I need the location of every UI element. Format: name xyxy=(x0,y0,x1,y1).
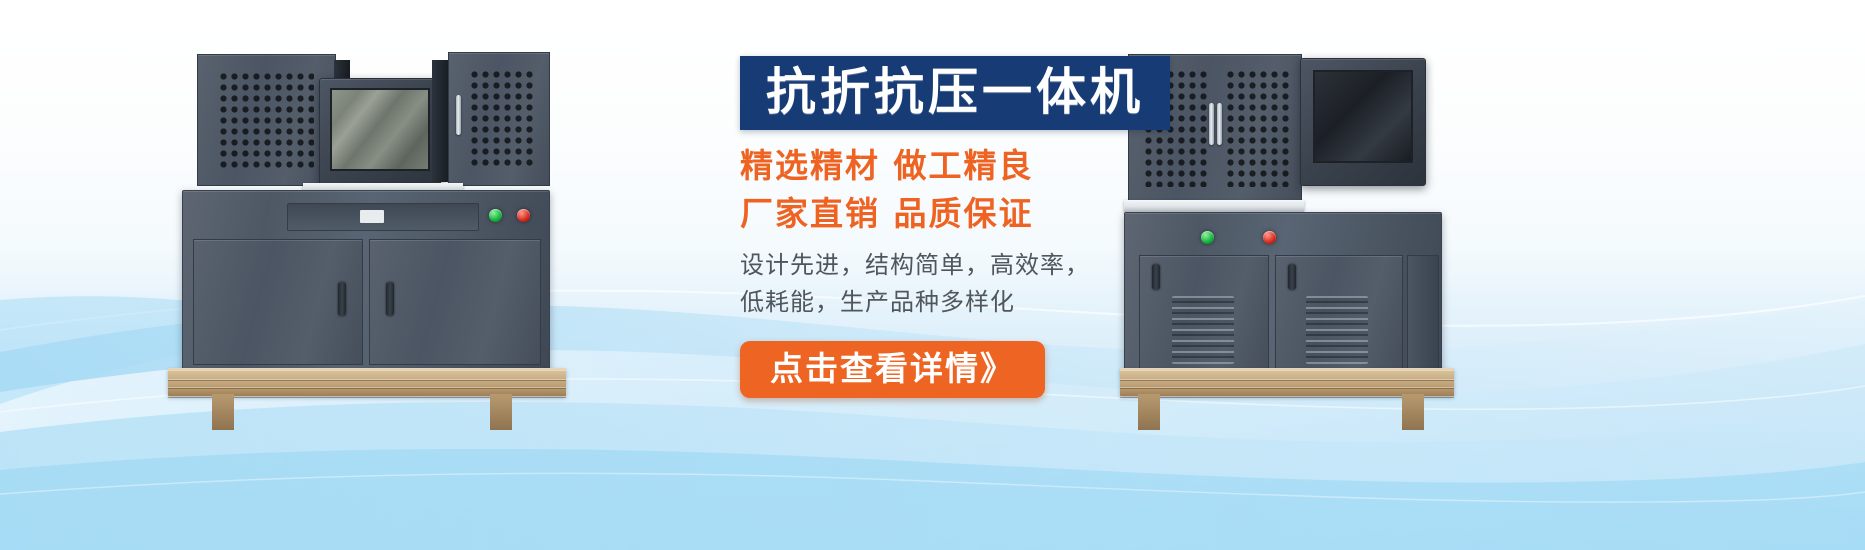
description-line-1: 设计先进，结构简单，高效率， xyxy=(740,247,1300,284)
cabinet-handle xyxy=(456,95,461,135)
control-label-plate xyxy=(360,210,384,223)
view-details-button[interactable]: 点击查看详情》 xyxy=(740,341,1045,398)
left-machine-upper-left-cabinet xyxy=(197,54,336,186)
description-block: 设计先进，结构简单，高效率， 低耗能，生产品种多样化 xyxy=(740,247,1300,321)
right-machine-monitor xyxy=(1300,58,1426,186)
red-indicator-light xyxy=(517,209,530,222)
pallet-leg xyxy=(212,394,234,430)
headline-primary: 精选精材 做工精良 xyxy=(740,144,1300,188)
promotional-banner: 抗折抗压一体机 精选精材 做工精良 厂家直销 品质保证 设计先进，结构简单，高效… xyxy=(0,0,1865,550)
monitor-screen xyxy=(1313,70,1413,163)
right-machine-side-column xyxy=(1407,255,1439,369)
pallet-leg xyxy=(1402,394,1424,430)
left-machine-lower-body xyxy=(182,190,550,372)
pallet-leg xyxy=(490,394,512,430)
description-line-2: 低耗能，生产品种多样化 xyxy=(740,284,1300,321)
banner-copy-block: 抗折抗压一体机 精选精材 做工精良 厂家直销 品质保证 设计先进，结构简单，高效… xyxy=(740,56,1300,398)
left-machine-control-recess xyxy=(287,203,479,231)
left-machine-front-door-2 xyxy=(369,239,541,365)
perforation-pattern-icon xyxy=(218,71,314,169)
headline-secondary: 厂家直销 品质保证 xyxy=(740,192,1300,236)
monitor-screen xyxy=(330,88,430,171)
title-banner: 抗折抗压一体机 xyxy=(740,56,1170,130)
door-handle xyxy=(338,282,346,316)
left-machine-front-door-1 xyxy=(193,239,363,365)
left-machine-monitor xyxy=(319,78,441,190)
green-indicator-light xyxy=(489,209,502,222)
view-details-button-label: 点击查看详情》 xyxy=(770,352,1015,385)
door-handle xyxy=(386,282,394,316)
page-title: 抗折抗压一体机 xyxy=(766,67,1144,117)
perforation-pattern-icon xyxy=(469,69,535,169)
product-image-left xyxy=(160,40,590,430)
pallet-leg xyxy=(1138,394,1160,430)
left-machine-wooden-pallet xyxy=(168,368,566,396)
ventilation-louvers-icon xyxy=(1306,296,1368,364)
left-machine-upper-right-cabinet xyxy=(448,52,550,186)
